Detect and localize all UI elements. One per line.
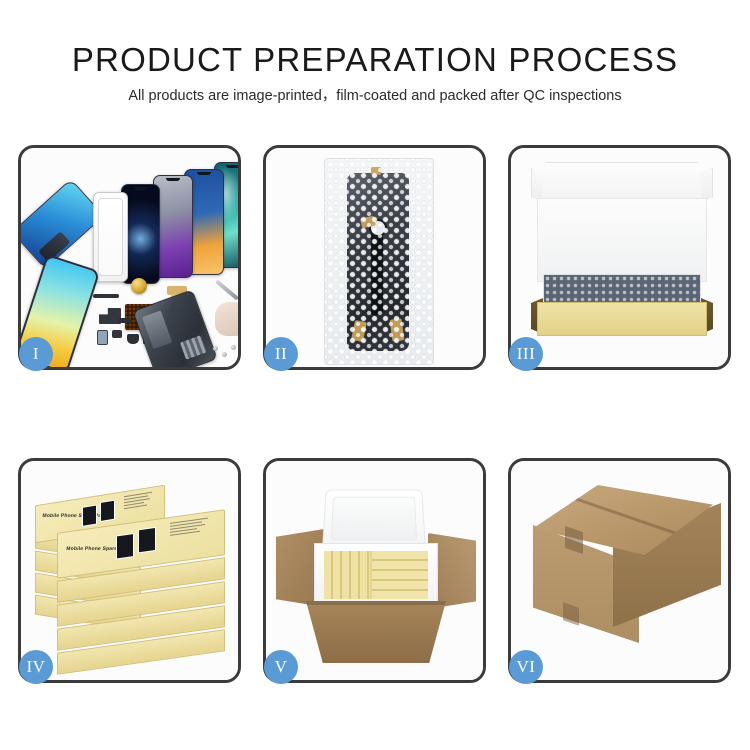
process-step-panel-1: I — [18, 145, 241, 370]
stacked-retail-boxes: Mobile Phone Spare Parts Mobile Phone Sp… — [29, 473, 235, 673]
step-badge-6: VI — [509, 650, 543, 684]
step-badge-2: II — [264, 337, 298, 371]
sealed-shipping-carton — [525, 485, 721, 655]
step-badge-1: I — [19, 337, 53, 371]
box-interior — [537, 198, 707, 282]
box-label-text: Mobile Phone Spare Parts — [42, 513, 109, 519]
phone-notch-icon — [166, 178, 180, 181]
step-1-image — [21, 148, 238, 367]
box-lid-back — [541, 162, 703, 203]
process-step-panel-4: Mobile Phone Spare Parts Mobile Phone Sp… — [18, 458, 241, 683]
box-label-lines — [124, 491, 154, 511]
header: PRODUCT PREPARATION PROCESS All products… — [0, 0, 750, 106]
phone-film-blue — [21, 179, 104, 270]
process-step-panel-2: II — [263, 145, 486, 370]
box-label-phone-image — [100, 500, 115, 522]
box-label-phone-image — [116, 533, 134, 560]
step-2-image — [266, 148, 483, 367]
vibrator-motor-part — [127, 334, 139, 344]
page-title: PRODUCT PREPARATION PROCESS — [0, 40, 750, 80]
process-step-panel-5: V — [263, 458, 486, 683]
step-badge-4: IV — [19, 650, 53, 684]
step-badge-3: III — [509, 337, 543, 371]
flex-cable-left-part — [99, 308, 121, 324]
connector-part — [112, 330, 122, 338]
boxes-vertical-group — [324, 551, 370, 599]
phone-notch-icon — [197, 172, 211, 175]
process-step-panel-3: III — [508, 145, 731, 370]
bubble-texture-offset — [325, 159, 433, 364]
speaker-mesh-part — [93, 294, 119, 298]
product-preparation-infographic: PRODUCT PREPARATION PROCESS All products… — [0, 0, 750, 750]
carton-body — [306, 601, 446, 663]
camera-lens-part — [131, 278, 147, 294]
phone-glass-white-bezel — [93, 192, 128, 282]
process-step-panel-6: VI — [508, 458, 731, 683]
process-step-grid: I II — [18, 145, 732, 683]
step-4-image: Mobile Phone Spare Parts Mobile Phone Sp… — [21, 461, 238, 680]
page-subtitle: All products are image-printed，film-coat… — [0, 87, 750, 106]
step-5-image — [266, 461, 483, 680]
box-label-lines — [170, 517, 210, 538]
sim-tray-part — [97, 330, 108, 345]
open-inner-box — [527, 162, 717, 352]
screws-group — [213, 344, 238, 360]
open-shipping-carton — [276, 471, 476, 671]
phones-and-parts-illustration — [21, 148, 238, 367]
box-label-phone-image — [82, 504, 97, 526]
box-label-phone-image — [138, 527, 156, 554]
phone-notch-icon — [134, 187, 148, 190]
antenna-strip-part — [119, 318, 132, 323]
step-3-image — [511, 148, 728, 367]
hand-shape — [215, 302, 238, 336]
phone-notch-icon — [226, 165, 238, 168]
box-front-yellow — [537, 302, 707, 336]
yellow-boxes-inside-carton — [324, 551, 428, 599]
foam-lid — [322, 490, 426, 549]
bubble-wrap-bag — [324, 158, 434, 365]
boxes-horizontal-group — [372, 551, 428, 599]
screwdriver-and-hand — [207, 288, 238, 342]
step-6-image — [511, 461, 728, 680]
step-badge-5: V — [264, 650, 298, 684]
